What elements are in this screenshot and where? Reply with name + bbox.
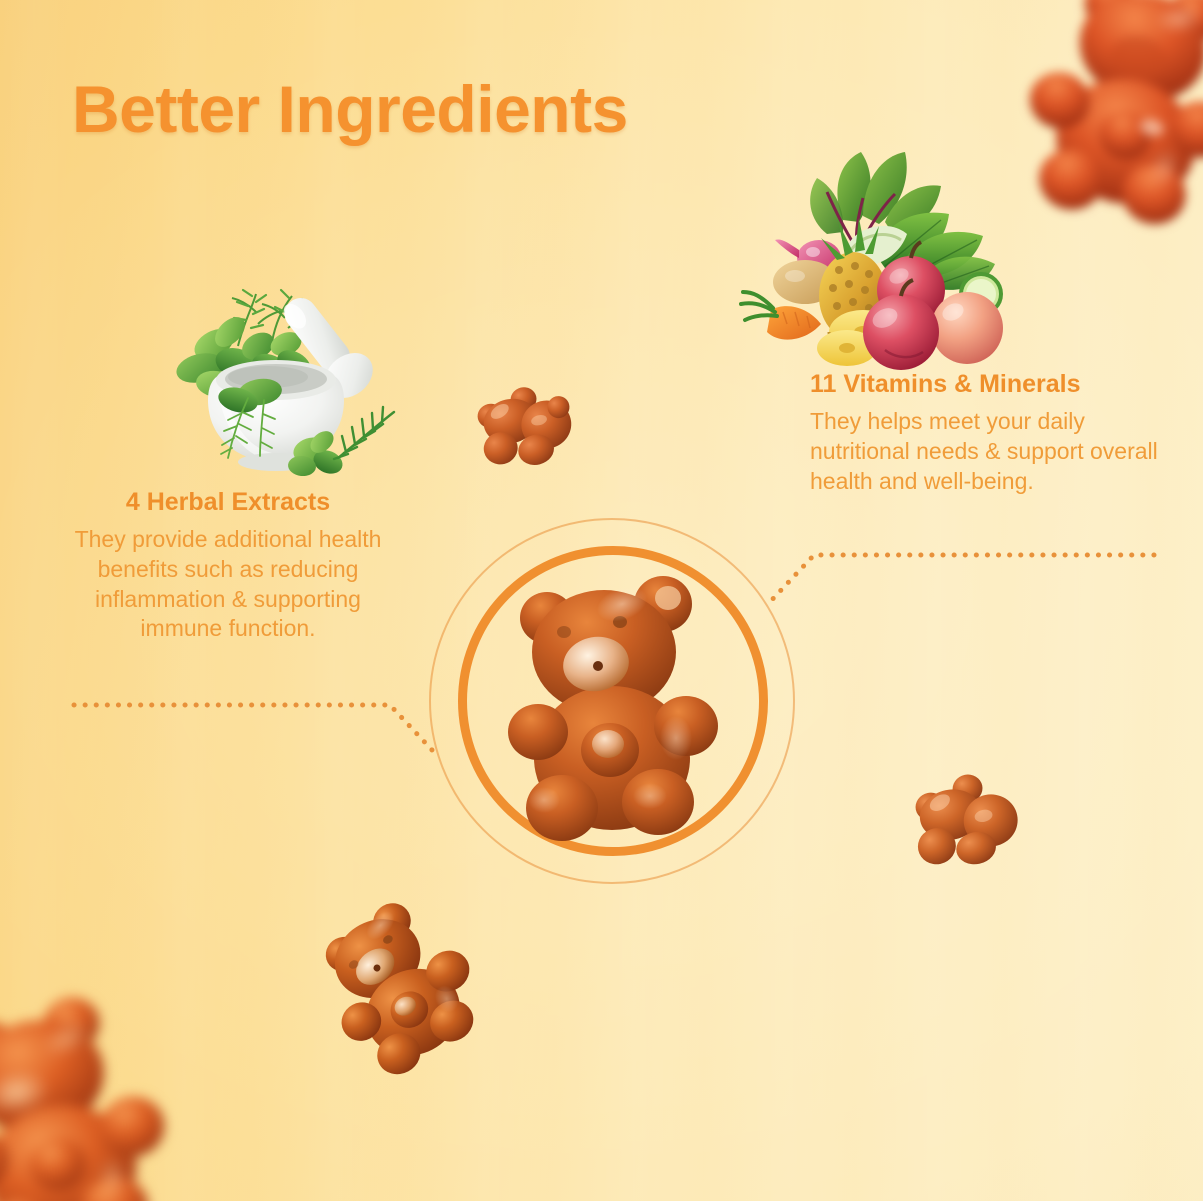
- herbal-heading: 4 Herbal Extracts: [58, 488, 398, 517]
- poster-canvas: Better Ingredients: [0, 0, 1203, 1201]
- gummy-bear-corner-top-right: [1002, 0, 1203, 251]
- info-block-herbal-extracts: 4 Herbal Extracts They provide additiona…: [58, 488, 398, 644]
- gummy-bear-accent-2: [899, 761, 1029, 878]
- gummy-bear-accent-1: [465, 373, 582, 479]
- fruits-vegetables-photo: [735, 142, 1015, 367]
- page-title: Better Ingredients: [72, 71, 628, 147]
- herbal-body: They provide additional health benefits …: [58, 525, 398, 645]
- info-block-vitamins-minerals: 11 Vitamins & Minerals They helps meet y…: [810, 370, 1160, 496]
- herbs-mortar-photo: [152, 272, 400, 477]
- vitamins-body: They helps meet your daily nutritional n…: [810, 407, 1160, 497]
- gummy-bear-center: [500, 560, 725, 850]
- connector-left: [60, 670, 460, 780]
- vitamins-heading: 11 Vitamins & Minerals: [810, 370, 1160, 399]
- gummy-bear-corner-bottom-left: [0, 980, 199, 1201]
- connector-right: [740, 520, 1160, 630]
- gummy-bear-accent-3: [293, 874, 501, 1086]
